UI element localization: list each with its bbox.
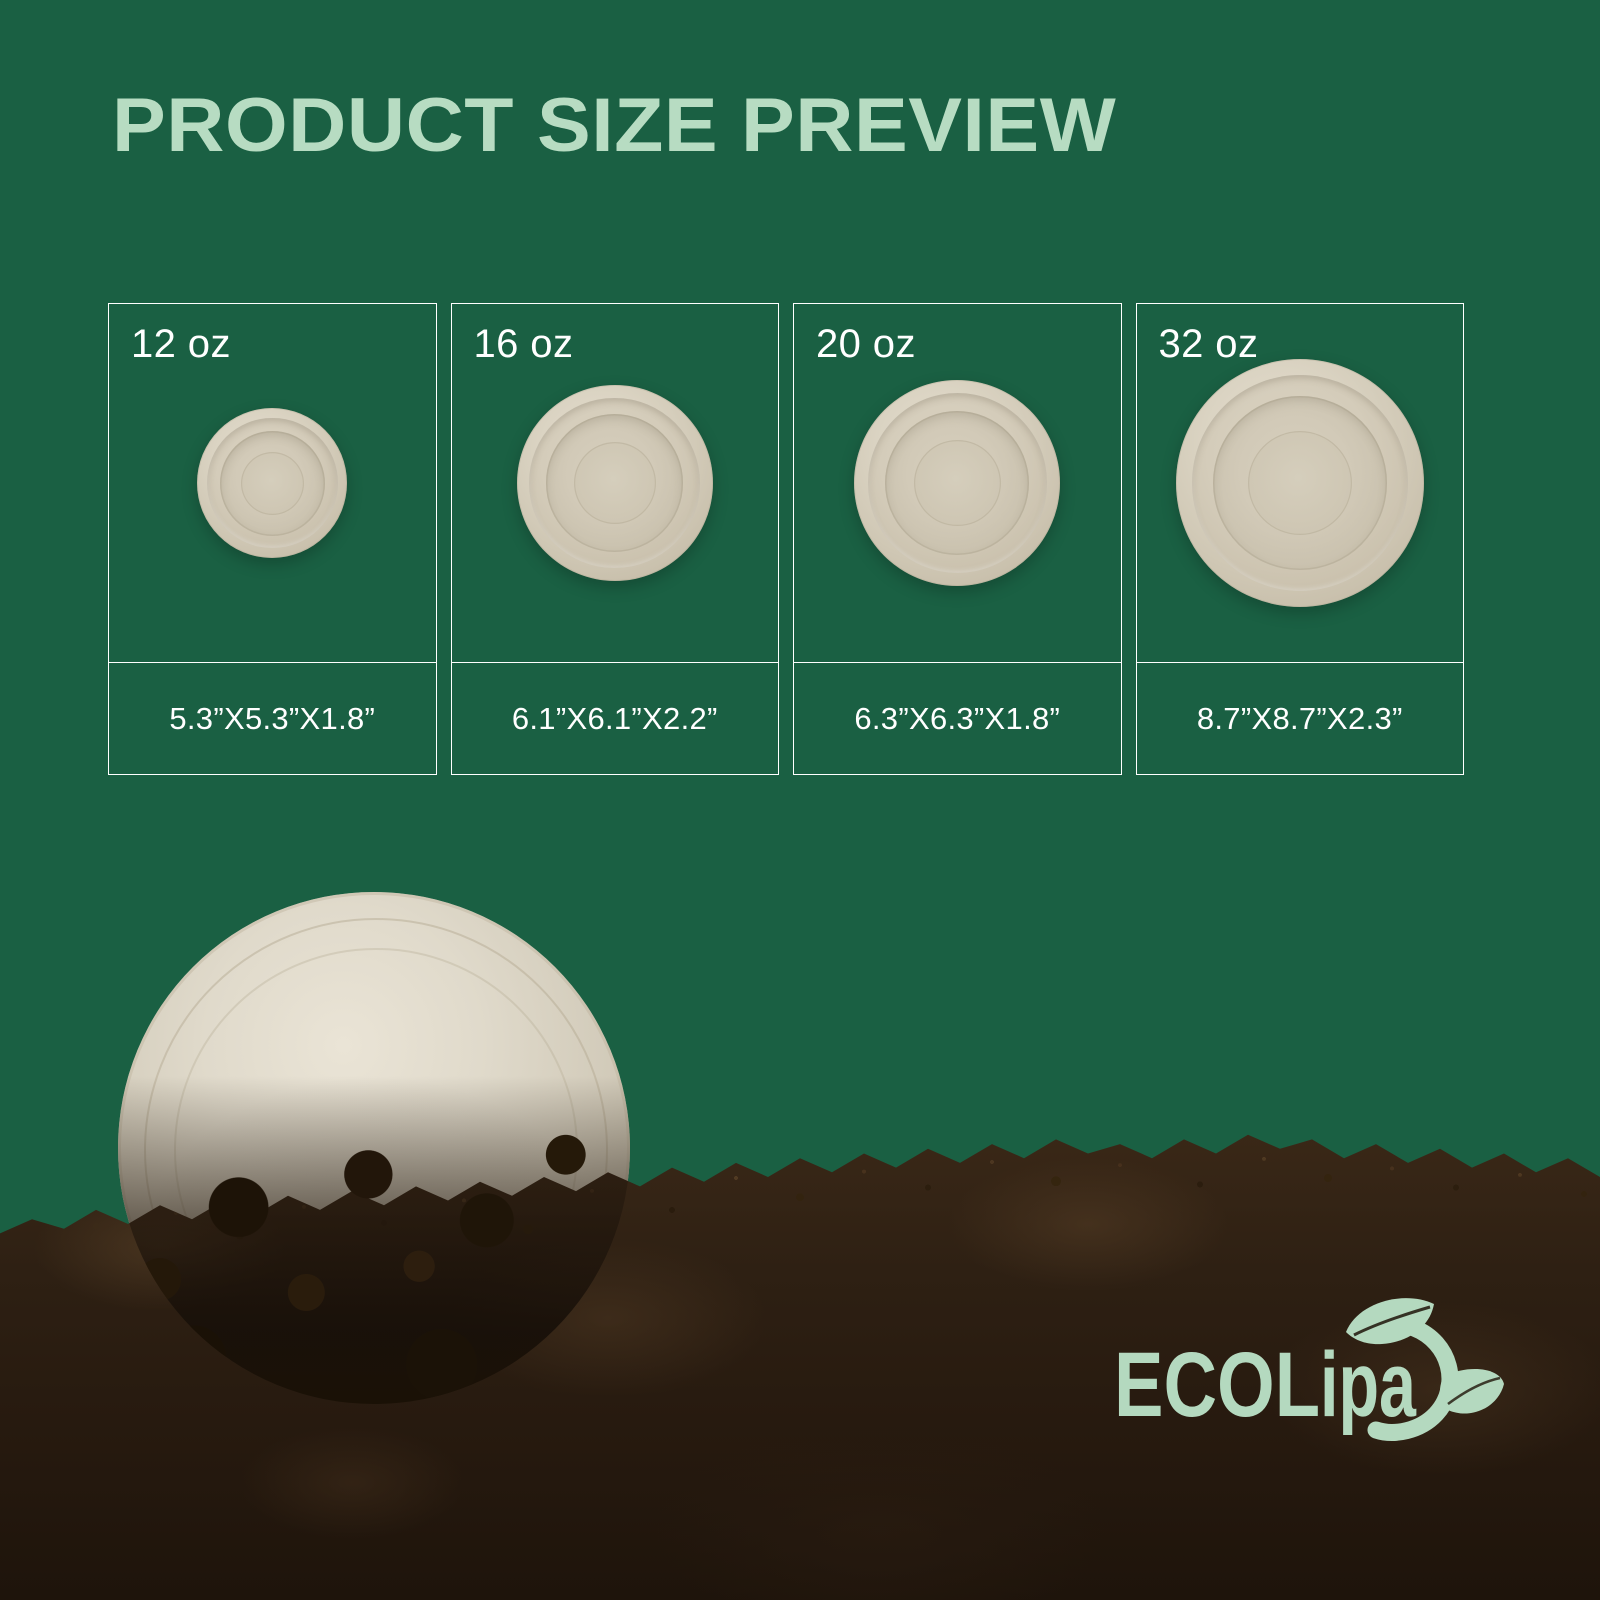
product-image-area: 16 oz: [452, 304, 779, 663]
capacity-label: 20 oz: [816, 320, 916, 368]
product-image-area: 32 oz: [1137, 304, 1464, 663]
soil-crumbs: [0, 1130, 1600, 1290]
dimension-label: 5.3”X5.3”X1.8”: [169, 701, 375, 737]
product-image-area: 20 oz: [794, 304, 1121, 663]
brand-logo: ECOL ipa: [1114, 1280, 1504, 1450]
paper-bowl-icon: [854, 380, 1060, 586]
logo-wordmark-secondary: ipa: [1320, 1334, 1417, 1436]
dimension-area: 5.3”X5.3”X1.8”: [109, 663, 436, 774]
page-title: PRODUCT SIZE PREVIEW: [112, 88, 1116, 164]
dimension-label: 8.7”X8.7”X2.3”: [1197, 701, 1403, 737]
size-cell-32oz: 32 oz 8.7”X8.7”X2.3”: [1136, 303, 1465, 775]
dimension-area: 6.1”X6.1”X2.2”: [452, 663, 779, 774]
size-comparison-grid: 12 oz 5.3”X5.3”X1.8” 16 oz: [108, 303, 1464, 775]
paper-bowl-icon: [517, 385, 713, 581]
size-cell-12oz: 12 oz 5.3”X5.3”X1.8”: [108, 303, 437, 775]
capacity-label: 12 oz: [131, 320, 231, 368]
dimension-area: 8.7”X8.7”X2.3”: [1137, 663, 1464, 774]
infographic-canvas: PRODUCT SIZE PREVIEW 12 oz 5.3”X5.3”X1.8…: [0, 0, 1600, 1600]
leaf-sprout-icon: [1440, 1369, 1504, 1414]
size-cell-20oz: 20 oz 6.3”X6.3”X1.8”: [793, 303, 1122, 775]
size-cell-16oz: 16 oz 6.1”X6.1”X2.2”: [451, 303, 780, 775]
paper-bowl-icon: [1176, 359, 1424, 607]
capacity-label: 16 oz: [474, 320, 574, 368]
bowl-base-ring: [241, 452, 304, 515]
paper-bowl-icon: [197, 408, 347, 558]
bowl-base-ring: [1248, 431, 1352, 535]
bowl-wrapper: [854, 380, 1060, 586]
dimension-label: 6.3”X6.3”X1.8”: [854, 701, 1060, 737]
bowl-base-ring: [914, 440, 1001, 527]
product-image-area: 12 oz: [109, 304, 436, 663]
bowl-wrapper: [517, 385, 713, 581]
bowl-base-ring: [574, 442, 656, 524]
dimension-label: 6.1”X6.1”X2.2”: [512, 701, 718, 737]
logo-wordmark-primary: ECOL: [1114, 1334, 1320, 1436]
bowl-wrapper: [197, 408, 347, 558]
dimension-area: 6.3”X6.3”X1.8”: [794, 663, 1121, 774]
bowl-wrapper: [1176, 359, 1424, 607]
ecolipak-logo-svg: ECOL ipa: [1114, 1280, 1504, 1450]
